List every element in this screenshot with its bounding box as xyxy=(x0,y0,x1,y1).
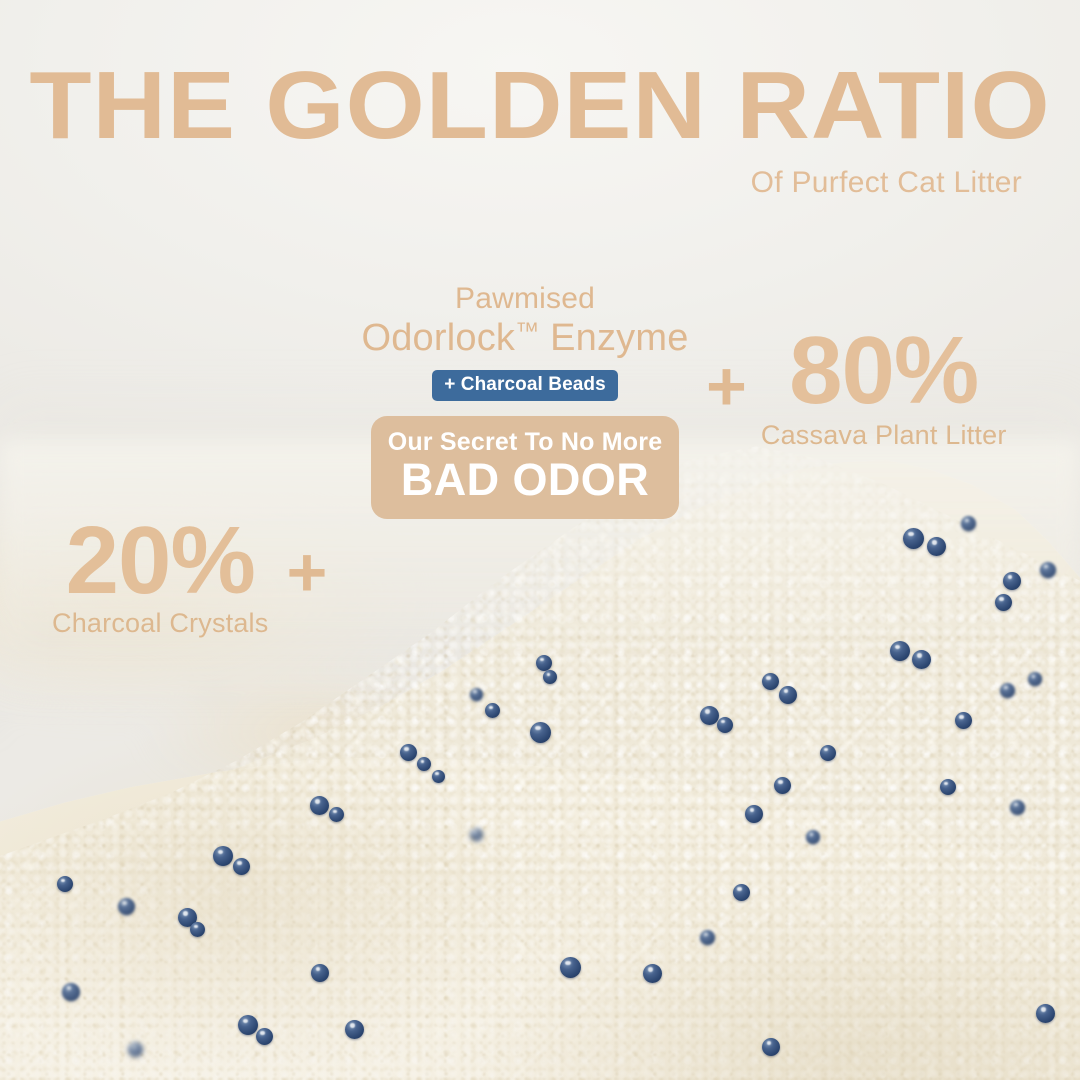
stat-cassava: + 80% Cassava Plant Litter xyxy=(706,325,1007,451)
brand-line: Pawmised xyxy=(330,282,720,315)
center-content-column: Pawmised Odorlock™ Enzyme + Charcoal Bea… xyxy=(330,282,720,519)
stat-label-cassava: Cassava Plant Litter xyxy=(761,420,1007,451)
trademark-symbol: ™ xyxy=(515,318,539,345)
plus-operator-left: + xyxy=(286,537,327,607)
page-title: THE GOLDEN RATIO xyxy=(0,58,1080,154)
stat-value-charcoal: 20% xyxy=(52,515,268,606)
poster-canvas: THE GOLDEN RATIO Of Purfect Cat Litter P… xyxy=(0,0,1080,1080)
callout-bad-odor-label: BAD ODOR xyxy=(381,456,669,503)
stat-value-cassava: 80% xyxy=(761,325,1007,416)
product-line: Odorlock™ Enzyme xyxy=(330,317,720,361)
page-subtitle: Of Purfect Cat Litter xyxy=(751,166,1022,200)
bad-odor-callout-box: Our Secret To No More BAD ODOR xyxy=(371,416,679,520)
charcoal-beads-badge: + Charcoal Beads xyxy=(432,370,618,401)
stat-label-charcoal: Charcoal Crystals xyxy=(52,608,268,639)
stat-charcoal: 20% Charcoal Crystals + xyxy=(52,515,327,639)
callout-secret-label: Our Secret To No More xyxy=(381,429,669,455)
product-name: Odorlock xyxy=(361,317,515,359)
plus-operator-right: + xyxy=(706,351,747,421)
product-name-suffix: Enzyme xyxy=(539,317,688,359)
